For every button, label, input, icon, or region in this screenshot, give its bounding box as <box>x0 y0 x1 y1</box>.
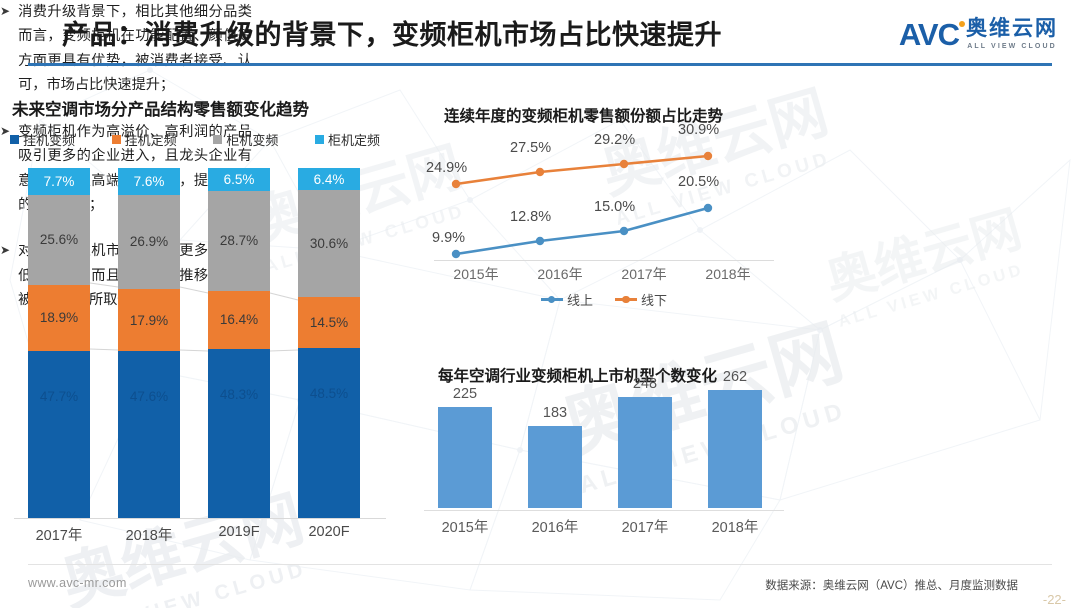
line-point[interactable] <box>536 168 544 176</box>
chart-x-tick-labels: 2017年 2018年 2019F 2020F <box>14 524 386 552</box>
legend-line-icon <box>615 298 637 301</box>
x-tick-label: 2016年 <box>513 516 597 537</box>
legend-swatch-icon <box>10 135 19 144</box>
x-tick-label: 2018年 <box>686 264 770 284</box>
chart-x-axis <box>434 260 774 261</box>
data-label: 15.0% <box>594 199 635 215</box>
bar-2016[interactable]: 183 <box>528 426 582 508</box>
legend-item[interactable]: 挂机定频 <box>112 130 177 149</box>
legend-label: 柜机变频 <box>226 130 278 149</box>
legend-label: 线下 <box>641 290 667 309</box>
line-series-xianshang[interactable] <box>456 208 708 254</box>
x-tick-label: 2015年 <box>423 516 507 537</box>
page-title: 产品：消费升级的背景下，变频柜机市场占比快速提升 <box>62 13 722 52</box>
slide-root: 奥维云网ALL VIEW CLOUD 奥维云网ALL VIEW CLOUD 奥维… <box>0 0 1080 608</box>
chart-x-axis <box>14 518 386 519</box>
slide-header: 产品：消费升级的背景下，变频柜机市场占比快速提升 AVC 奥维云网 ALL VI… <box>0 0 1080 68</box>
legend-label: 线上 <box>567 290 593 309</box>
data-label: 248 <box>618 376 672 392</box>
x-tick-label: 2017年 <box>603 516 687 537</box>
chart-x-tick-labels: 2015年 2016年 2017年 2018年 <box>424 264 784 288</box>
line-point[interactable] <box>452 250 460 258</box>
title-divider <box>28 63 1052 66</box>
chart-plot-area: 225 183 248 262 <box>432 390 776 508</box>
logo-english-name: ALL VIEW CLOUD <box>966 43 1058 50</box>
data-source-note: 数据来源：奥维云网（AVC）推总、月度监测数据 <box>765 577 1018 593</box>
chart-stacked-retail-structure: 未来空调市场分产品结构零售额变化趋势 挂机变频 挂机定频 柜机变频 柜机定频 <box>0 96 400 566</box>
x-tick-label: 2015年 <box>434 264 518 284</box>
chart-model-count: 每年空调行业变频柜机上市机型个数变化 225 183 248 262 2015年… <box>404 360 804 566</box>
bar-2015[interactable]: 225 <box>438 407 492 508</box>
data-label: 9.9% <box>432 230 465 246</box>
chart-x-tick-labels: 2015年 2016年 2017年 2018年 <box>432 516 776 540</box>
website-url[interactable]: www.avc-mr.com <box>28 576 127 590</box>
logo-dot-icon <box>959 21 965 27</box>
chart-title: 未来空调市场分产品结构零售额变化趋势 <box>12 96 309 120</box>
line-series-xianxia[interactable] <box>456 156 708 184</box>
legend-label: 挂机变频 <box>23 130 75 149</box>
line-point[interactable] <box>704 204 712 212</box>
line-point[interactable] <box>704 152 712 160</box>
data-label: 27.5% <box>510 140 551 156</box>
slide-footer: www.avc-mr.com 数据来源：奥维云网（AVC）推总、月度监测数据 -… <box>0 564 1080 608</box>
legend-label: 柜机定频 <box>328 130 380 149</box>
stack-connectors <box>14 168 386 518</box>
line-point[interactable] <box>620 227 628 235</box>
data-label: 183 <box>528 405 582 421</box>
data-label: 225 <box>438 386 492 402</box>
bar-2018[interactable]: 262 <box>708 390 762 508</box>
x-tick-label: 2018年 <box>104 524 194 545</box>
chart-title: 每年空调行业变频柜机上市机型个数变化 <box>438 364 717 386</box>
data-label: 29.2% <box>594 132 635 148</box>
legend-item[interactable]: 挂机变频 <box>10 130 75 149</box>
data-label: 30.9% <box>678 122 719 138</box>
x-tick-label: 2019F <box>194 524 284 540</box>
page-number: -22- <box>1043 592 1066 607</box>
x-tick-label: 2018年 <box>693 516 777 537</box>
legend-line-icon <box>541 298 563 301</box>
bar-2017[interactable]: 248 <box>618 397 672 508</box>
x-tick-label: 2020F <box>284 524 374 540</box>
legend-swatch-icon <box>213 135 222 144</box>
chart-legend: 挂机变频 挂机定频 柜机变频 柜机定频 <box>10 130 380 149</box>
x-tick-label: 2017年 <box>602 264 686 284</box>
data-label: 12.8% <box>510 209 551 225</box>
chart-x-axis <box>424 510 784 511</box>
chart-line-share-trend: 连续年度的变频柜机零售额份额占比走势 24.9% 27.5% 29.2% 30.… <box>404 96 804 326</box>
x-tick-label: 2016年 <box>518 264 602 284</box>
legend-swatch-icon <box>112 135 121 144</box>
legend-label: 挂机定频 <box>125 130 177 149</box>
line-point[interactable] <box>536 237 544 245</box>
data-label: 20.5% <box>678 174 719 190</box>
logo-chinese-name: 奥维云网 <box>966 18 1058 40</box>
logo-mark: AVC <box>899 19 959 50</box>
data-label: 262 <box>708 369 762 385</box>
legend-item[interactable]: 线下 <box>615 290 667 309</box>
chart-legend: 线上 线下 <box>404 290 804 309</box>
line-point[interactable] <box>620 160 628 168</box>
legend-item[interactable]: 柜机定频 <box>315 130 380 149</box>
legend-item[interactable]: 线上 <box>541 290 593 309</box>
avc-logo: AVC 奥维云网 ALL VIEW CLOUD <box>899 12 1058 56</box>
x-tick-label: 2017年 <box>14 524 104 545</box>
line-point[interactable] <box>452 180 460 188</box>
legend-item[interactable]: 柜机变频 <box>213 130 278 149</box>
footer-divider <box>28 564 1052 565</box>
legend-swatch-icon <box>315 135 324 144</box>
data-label: 24.9% <box>426 160 467 176</box>
